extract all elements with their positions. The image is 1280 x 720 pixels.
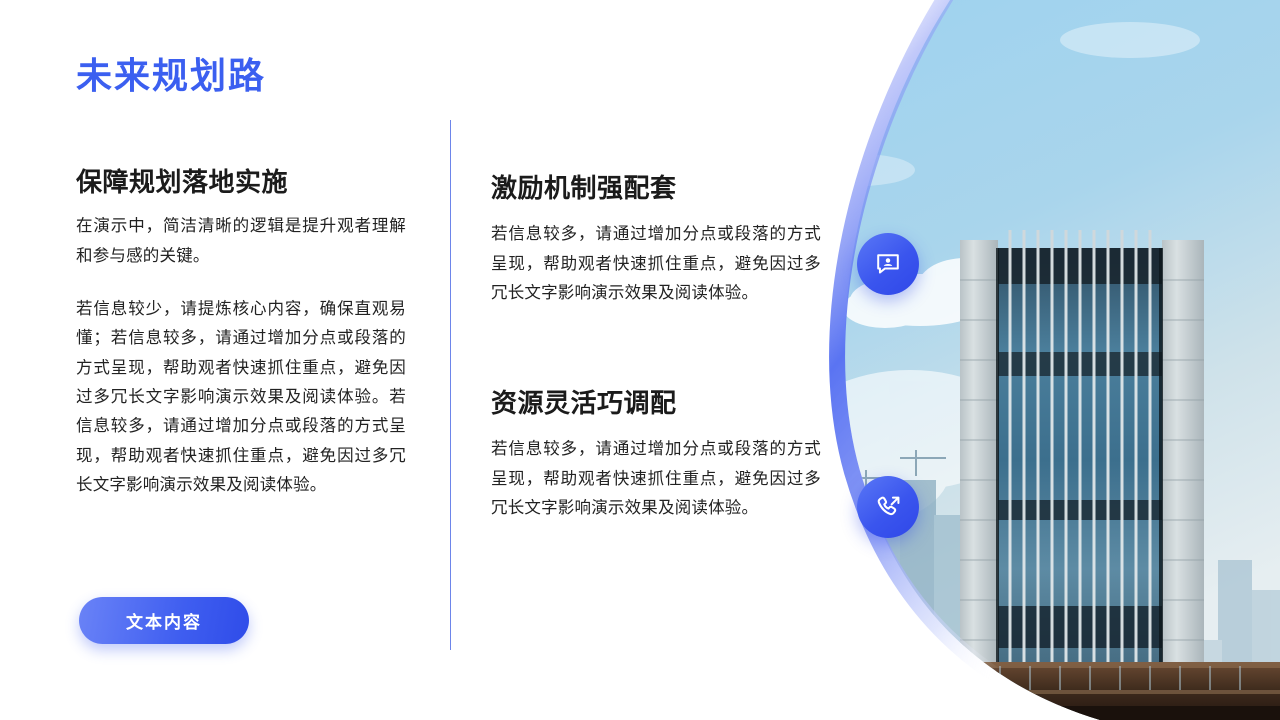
decorative-arc — [837, 0, 1102, 720]
middle-heading-1: 激励机制强配套 — [491, 173, 821, 204]
slide: 未来规划路 保障规划落地实施 在演示中，简洁清晰的逻辑是提升观者理解和参与感的关… — [0, 0, 1280, 720]
chat-contact-icon — [874, 250, 902, 278]
middle-heading-2: 资源灵活巧调配 — [491, 388, 821, 419]
middle-paragraph-2: 若信息较多，请通过增加分点或段落的方式呈现，帮助观者快速抓住重点，避免因过多冗长… — [491, 435, 821, 523]
left-paragraph-2: 若信息较少，请提炼核心内容，确保直观易懂；若信息较多，请通过增加分点或段落的方式… — [76, 295, 406, 501]
call-outgoing-icon — [874, 493, 903, 522]
column-divider — [450, 120, 451, 650]
background-towers-right — [1204, 560, 1280, 720]
page-title: 未来规划路 — [76, 53, 266, 98]
middle-block-2: 资源灵活巧调配 若信息较多，请通过增加分点或段落的方式呈现，帮助观者快速抓住重点… — [491, 388, 821, 523]
middle-paragraph-1: 若信息较多，请通过增加分点或段落的方式呈现，帮助观者快速抓住重点，避免因过多冗长… — [491, 220, 821, 308]
podium-band — [910, 662, 1280, 720]
middle-block-1: 激励机制强配套 若信息较多，请通过增加分点或段落的方式呈现，帮助观者快速抓住重点… — [491, 173, 821, 308]
call-outgoing-badge[interactable] — [857, 476, 919, 538]
main-tower — [960, 230, 1204, 720]
left-column: 保障规划落地实施 在演示中，简洁清晰的逻辑是提升观者理解和参与感的关键。 若信息… — [76, 167, 406, 500]
text-content-button[interactable]: 文本内容 — [79, 597, 249, 644]
left-paragraph-1: 在演示中，简洁清晰的逻辑是提升观者理解和参与感的关键。 — [76, 212, 406, 271]
building-photo — [800, 0, 1280, 720]
chat-contact-badge[interactable] — [857, 233, 919, 295]
artwork-panel — [800, 0, 1280, 720]
left-heading: 保障规划落地实施 — [76, 167, 406, 198]
middle-column: 激励机制强配套 若信息较多，请通过增加分点或段落的方式呈现，帮助观者快速抓住重点… — [491, 173, 821, 524]
